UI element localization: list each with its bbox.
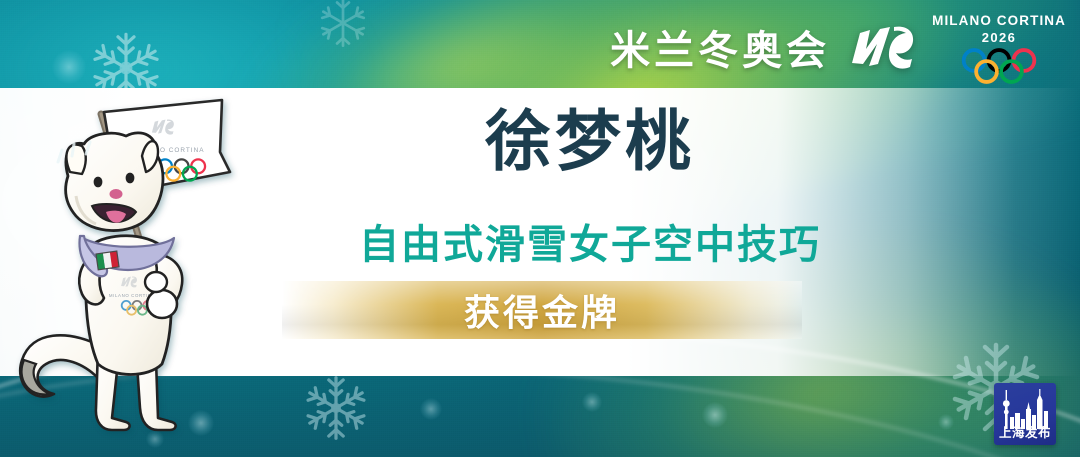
glow-dot	[582, 392, 602, 412]
mascot-tina-ermine: MILANO CORTINA	[6, 78, 256, 448]
glow-dot	[938, 414, 954, 430]
header-title-cn: 米兰冬奥会	[610, 18, 830, 76]
olympic-brand-text: MILANO CORTINA	[932, 13, 1066, 28]
olympic-rings-icon	[955, 48, 1043, 84]
poster-root: 米兰冬奥会 MILANO CORTINA 2026	[0, 0, 1080, 457]
glow-dot	[420, 398, 442, 420]
publisher-label: 上海发布	[994, 422, 1056, 441]
milano-cortina-lockup: MILANO CORTINA 2026	[932, 11, 1066, 84]
header-branding: 米兰冬奥会 MILANO CORTINA 2026	[610, 8, 1066, 86]
milano-26-emblem-icon	[844, 17, 918, 77]
event-name: 自由式滑雪女子空中技巧	[250, 212, 930, 270]
glow-dot	[702, 402, 728, 428]
athlete-name: 徐梦桃	[330, 104, 850, 180]
olympic-year-text: 2026	[982, 30, 1017, 45]
medal-result-label: 获得金牌	[282, 281, 802, 339]
publisher-logo[interactable]: 上海发布	[994, 383, 1056, 445]
